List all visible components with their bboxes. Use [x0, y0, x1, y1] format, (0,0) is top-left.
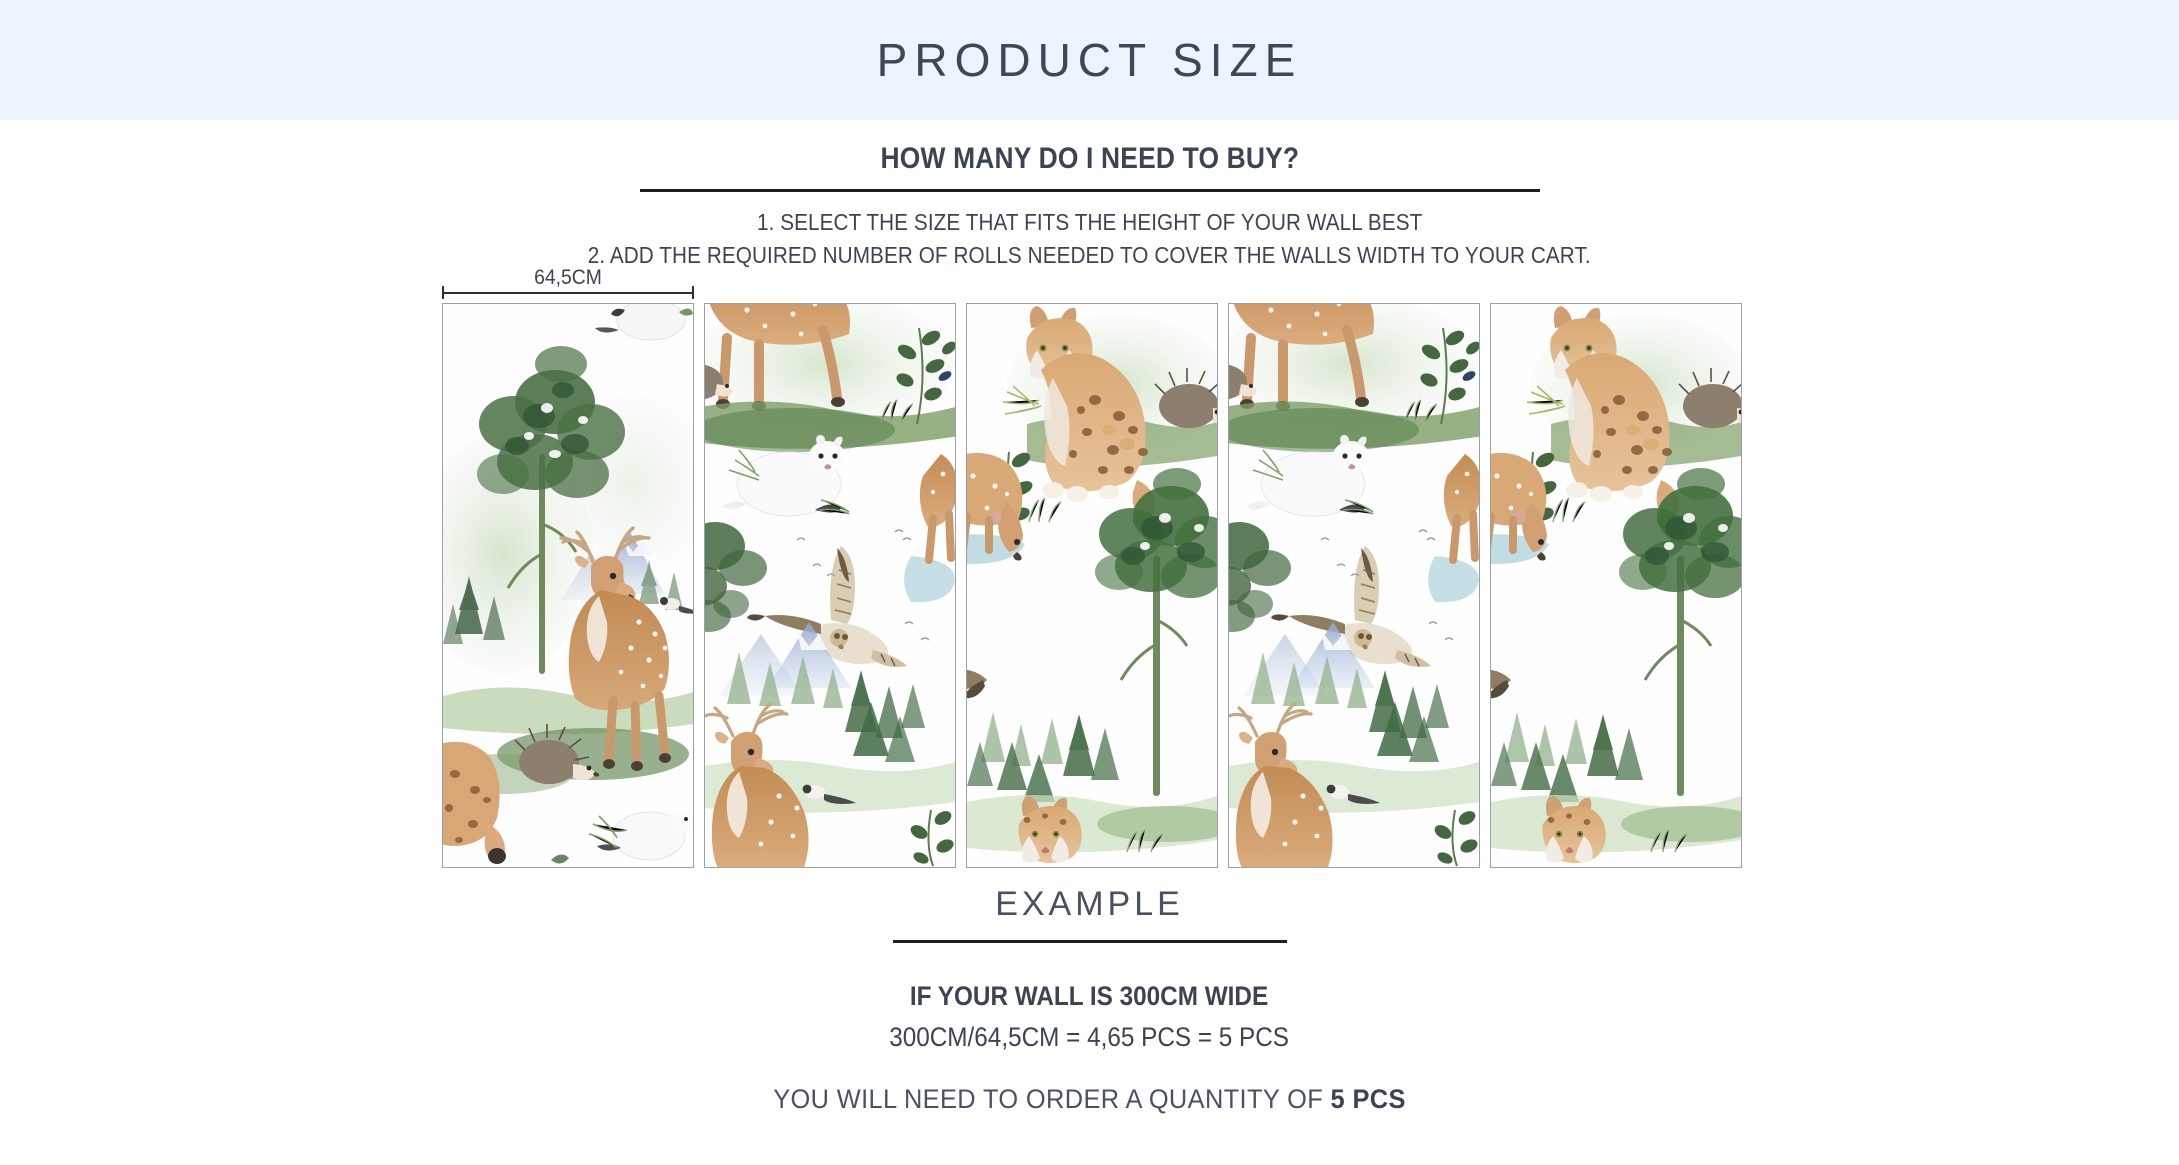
instructions-heading: HOW MANY DO I NEED TO BUY? [880, 142, 1299, 176]
wallpaper-roll-2[interactable] [704, 303, 956, 868]
example-section: EXAMPLE IF YOUR WALL IS 300CM WIDE 300CM… [0, 885, 2179, 1115]
example-title: EXAMPLE [995, 885, 1184, 924]
example-wall-width: IF YOUR WALL IS 300CM WIDE [910, 976, 1268, 1017]
width-dimension: 64,5CM [442, 270, 694, 303]
order-quantity-summary: YOU WILL NEED TO ORDER A QUANTITY OF 5 P… [773, 1084, 1406, 1115]
instruction-step-1: 1. SELECT THE SIZE THAT FITS THE HEIGHT … [757, 206, 1422, 239]
dimension-line-icon [442, 286, 694, 299]
page-title: PRODUCT SIZE [877, 33, 1303, 87]
instructions-section: HOW MANY DO I NEED TO BUY? 1. SELECT THE… [0, 120, 2179, 271]
instruction-step-2: 2. ADD THE REQUIRED NUMBER OF ROLLS NEED… [588, 239, 1591, 272]
wallpaper-roll-strip [442, 303, 1742, 868]
wallpaper-roll-3[interactable] [966, 303, 1218, 868]
heading-divider [640, 189, 1540, 192]
wallpaper-roll-4[interactable] [1228, 303, 1480, 868]
product-preview: 64,5CM [442, 270, 1738, 303]
wallpaper-roll-5[interactable] [1490, 303, 1742, 868]
order-quantity-value: 5 PCS [1331, 1084, 1406, 1114]
wallpaper-roll-1[interactable] [442, 303, 694, 868]
example-divider [893, 940, 1287, 943]
product-size-header: PRODUCT SIZE [0, 0, 2179, 120]
example-calculation: 300CM/64,5CM = 4,65 PCS = 5 PCS [890, 1017, 1290, 1058]
order-quantity-prefix: YOU WILL NEED TO ORDER A QUANTITY OF [773, 1084, 1330, 1114]
